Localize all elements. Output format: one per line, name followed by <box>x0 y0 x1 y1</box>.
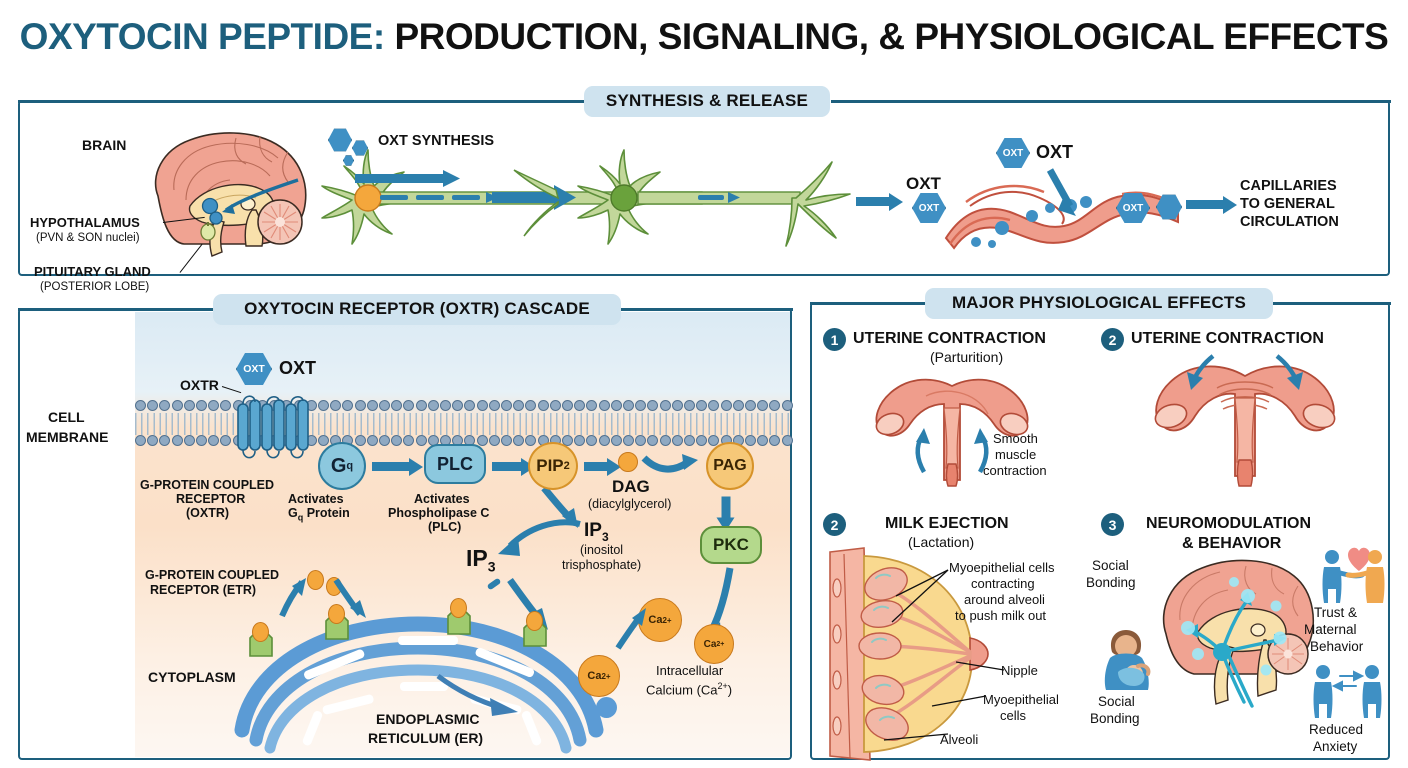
arrow-etr-down <box>332 578 368 620</box>
label-oxt-capillary-left: OXT <box>906 174 941 193</box>
effect-1-title: UTERINE CONTRACTION <box>853 330 1046 348</box>
panel-pill-synthesis: SYNTHESIS & RELEASE <box>584 86 830 117</box>
label-intracellular-l2: Calcium (Ca2+) <box>646 681 732 698</box>
effect-2-title: UTERINE CONTRACTION <box>1131 330 1324 348</box>
intracellular-paren: ) <box>728 682 732 697</box>
effect-3-title: MILK EJECTION <box>885 515 1009 533</box>
effect-1-annotation-3: contraction <box>983 464 1047 479</box>
label-pituitary: PITUITARY GLAND <box>34 265 151 280</box>
label-er-l1: ENDOPLASMIC <box>376 712 479 728</box>
panel-topline-effects-left <box>810 302 928 305</box>
label-er-l2: RETICULUM (ER) <box>368 731 483 747</box>
intracellular-ca: Calcium (Ca <box>646 682 718 697</box>
arrow-dag-to-pag <box>642 452 700 478</box>
effect-4-social-bonding-top-l2: Bonding <box>1086 575 1136 590</box>
effect-4-reduced-anxiety-l2: Anxiety <box>1313 739 1357 754</box>
ca-sup: 2+ <box>662 616 671 625</box>
badge-effect-3: 2 <box>823 513 846 536</box>
node-plc: PLC <box>424 444 486 484</box>
effect-4-title-l1: NEUROMODULATION <box>1146 515 1311 533</box>
effect-1-annotation-2: muscle <box>995 448 1036 463</box>
panel-topline-effects-right <box>1273 302 1391 305</box>
arrow-ip3-curve <box>494 518 584 560</box>
ca-sup: 2+ <box>601 672 610 681</box>
effect-4-social-bonding-bottom-l2: Bonding <box>1090 711 1140 726</box>
intracellular-ca-sup: 2+ <box>718 681 728 691</box>
page-title: OXYTOCIN PEPTIDE: PRODUCTION, SIGNALING,… <box>0 0 1408 58</box>
arrow-etr-up <box>274 578 308 618</box>
effect-4-reduced-anxiety-l1: Reduced <box>1309 722 1363 737</box>
effect-1-subtitle: (Parturition) <box>930 350 1003 366</box>
caption-activates-plc-l3: (PLC) <box>428 520 461 534</box>
label-dag: DAG <box>612 477 650 496</box>
label-brain: BRAIN <box>82 138 126 154</box>
label-hypothalamus: HYPOTHALAMUS <box>30 216 140 231</box>
panel-topline-left <box>18 100 586 103</box>
label-capillaries-l2: TO GENERAL <box>1240 196 1335 212</box>
caption-activates-gq-l1: Activates <box>288 492 344 506</box>
oxtr-receptor-7tm <box>236 390 314 462</box>
membrane-tails <box>135 413 790 435</box>
node-pag: PAG <box>706 442 754 490</box>
node-pip2: PIP2 <box>528 442 578 490</box>
effect-4-social-bonding-bottom-l1: Social <box>1098 694 1135 709</box>
label-dag-sub: (diacylglycerol) <box>588 497 671 511</box>
badge-effect-1: 1 <box>823 328 846 351</box>
arrow-pag-to-pkc <box>722 497 731 519</box>
label-pituitary-sub: (POSTERIOR LOBE) <box>40 281 149 294</box>
etr-calcium-4 <box>526 611 543 631</box>
etr-calcium-1 <box>252 622 269 642</box>
node-pip2-text: PIP <box>536 456 563 476</box>
caption-gq-protein: Protein <box>303 506 350 520</box>
label-gpcr-oxtr-l2: RECEPTOR <box>176 492 245 506</box>
hex-text: OXT <box>1003 148 1024 159</box>
title-rest: PRODUCTION, SIGNALING, & PHYSIOLOGICAL E… <box>385 16 1389 57</box>
label-ip3-full-l1: (inositol <box>580 543 623 557</box>
calcium-small-dot <box>596 697 617 718</box>
arrow-ca-to-intracellular <box>614 608 650 652</box>
node-pip2-sub: 2 <box>564 460 570 472</box>
node-plc-text: PLC <box>437 454 473 475</box>
label-ip3-left: IP3 <box>466 546 496 575</box>
uterus-illustration-2 <box>1135 350 1355 490</box>
label-cell-membrane-l2: MEMBRANE <box>26 430 108 446</box>
node-gq-text: G <box>331 455 347 478</box>
ip3-left-sub: 3 <box>488 559 496 575</box>
label-ip3-right: IP3 <box>584 520 609 544</box>
effect-4-social-bonding-top-l1: Social <box>1092 558 1129 573</box>
node-gq-sub: q <box>346 460 353 472</box>
panel-topline-cascade-right <box>621 308 793 311</box>
panel-pill-effects: MAJOR PHYSIOLOGICAL EFFECTS <box>925 288 1273 319</box>
arrow-pip2-to-dag <box>584 462 608 471</box>
effect-1-annotation-1: Smooth <box>993 432 1038 447</box>
ip3-dash <box>487 578 503 590</box>
arrow-to-capillary <box>856 197 890 206</box>
two-people-icon <box>1312 662 1384 718</box>
panel-topline-cascade-left <box>18 308 216 311</box>
cell-membrane-bilayer <box>135 398 790 450</box>
membrane-heads-top <box>135 400 790 413</box>
hex-text: OXT <box>243 363 265 375</box>
hex-text: OXT <box>1123 203 1144 214</box>
couple-heart-icon <box>1318 543 1388 605</box>
breast-leader-lines <box>836 556 1016 756</box>
node-pkc: PKC <box>700 526 762 564</box>
label-gpcr-oxtr-l1: G-PROTEIN COUPLED <box>140 478 274 492</box>
badge-effect-4: 3 <box>1101 513 1124 536</box>
arrow-to-circulation <box>1186 200 1224 209</box>
ca-text: Ca <box>648 614 662 626</box>
caption-gq-g: G <box>288 506 298 520</box>
ip3-right-sub: 3 <box>602 530 609 544</box>
label-cell-membrane-l1: CELL <box>48 410 85 426</box>
hex-text: OXT <box>919 203 940 214</box>
label-cytoplasm: CYTOPLASM <box>148 670 236 686</box>
brain-illustration <box>128 118 328 268</box>
ca-text: Ca <box>587 670 601 682</box>
effect-4-trust-l1: Trust & <box>1314 605 1357 620</box>
dag-dot <box>618 452 638 472</box>
node-pag-text: PAG <box>713 457 746 475</box>
etr-calcium-3 <box>450 598 467 618</box>
ca-text: Ca <box>704 639 717 650</box>
node-pkc-text: PKC <box>713 535 749 555</box>
label-capillaries-l1: CAPILLARIES <box>1240 178 1337 194</box>
label-gpcr-etr-l1: G-PROTEIN COUPLED <box>145 568 279 582</box>
badge-effect-2: 2 <box>1101 328 1124 351</box>
node-gq: Gq <box>318 442 366 490</box>
label-oxt-receptor: OXT <box>279 358 316 378</box>
mother-baby-icon <box>1098 628 1156 690</box>
label-ip3-full-l2: trisphosphate) <box>562 558 641 572</box>
label-oxtr: OXTR <box>180 378 219 394</box>
neuron-chain <box>300 140 880 270</box>
effect-4-trust-l3: Behavior <box>1310 639 1363 654</box>
caption-activates-plc-l1: Activates <box>414 492 470 506</box>
ca-sup: 2+ <box>716 641 724 648</box>
calcium-ion-er-exit: Ca2+ <box>578 655 620 697</box>
label-intracellular-l1: Intracellular <box>656 664 723 679</box>
ip3-right-text: IP <box>584 520 602 541</box>
ip3-left-text: IP <box>466 545 488 571</box>
brain-neuromodulation <box>1148 548 1316 708</box>
panel-topline-right <box>831 100 1391 103</box>
label-capillaries-l3: CIRCULATION <box>1240 214 1339 230</box>
label-hypothalamus-sub: (PVN & SON nuclei) <box>36 232 140 245</box>
panel-pill-cascade: OXYTOCIN RECEPTOR (OXTR) CASCADE <box>213 294 621 325</box>
calcium-ion-intracellular-2: Ca2+ <box>694 624 734 664</box>
label-gpcr-oxtr-l3: (OXTR) <box>186 506 229 520</box>
title-accent: OXYTOCIN PEPTIDE: <box>20 16 385 57</box>
arrow-gq-to-plc <box>372 462 410 471</box>
arrow-plc-to-pip2 <box>492 462 522 471</box>
caption-activates-plc-l2: Phospholipase C <box>388 506 489 520</box>
caption-activates-gq-l2: Gq Protein <box>288 506 350 523</box>
free-calcium-1 <box>307 570 324 590</box>
label-gpcr-etr-l2: RECEPTOR (ETR) <box>150 583 256 597</box>
effect-4-trust-l2: Maternal <box>1304 622 1357 637</box>
